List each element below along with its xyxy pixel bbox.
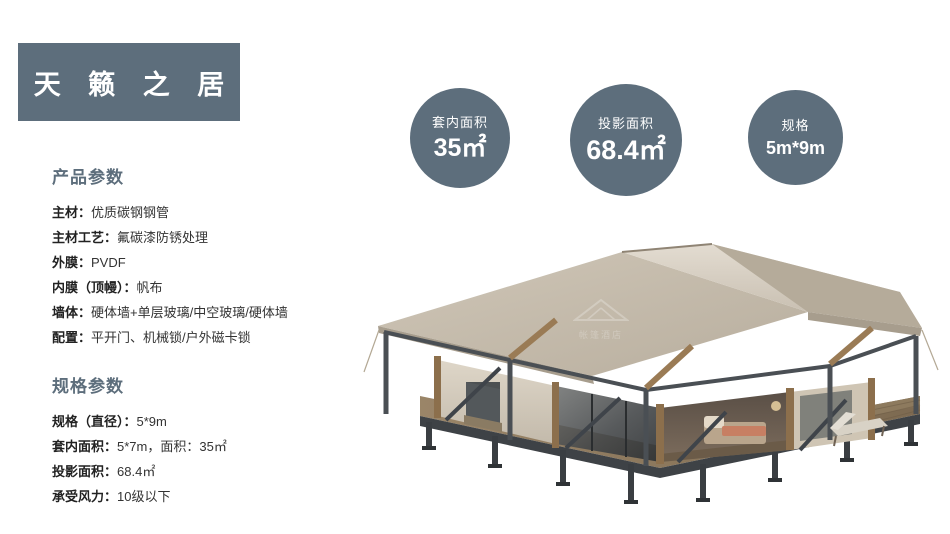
stat-label: 规格 <box>781 119 809 132</box>
section-heading-size: 规格参数 <box>52 372 382 397</box>
stat-value: 35㎡ <box>434 136 487 161</box>
stat-label: 套内面积 <box>432 116 488 129</box>
stat-circle-projected-area: 投影面积 68.4㎡ <box>570 84 682 196</box>
stat-circle-indoor-area: 套内面积 35㎡ <box>410 88 510 188</box>
spec-row: 投影面积：68.4㎡ <box>52 459 382 484</box>
spec-value: 优质碳钢钢管 <box>91 205 169 220</box>
spec-row: 配置：平开门、机械锁/户外磁卡锁 <box>52 325 382 350</box>
spec-value: 氟碳漆防锈处理 <box>117 230 208 245</box>
title-block: 天 籁 之 居 <box>18 43 240 121</box>
spec-label: 主材： <box>52 205 91 220</box>
spec-label: 承受风力： <box>52 489 117 504</box>
spec-value: 平开门、机械锁/户外磁卡锁 <box>91 330 251 345</box>
stat-circle-dimensions: 规格 5m*9m <box>748 90 843 185</box>
product-params-section: 产品参数 主材：优质碳钢钢管 主材工艺：氟碳漆防锈处理 外膜：PVDF 内膜（顶… <box>52 163 382 350</box>
spec-label: 外膜： <box>52 255 91 270</box>
spec-label: 规格（直径）： <box>52 414 137 429</box>
section-heading-product: 产品参数 <box>52 163 382 188</box>
tent-render-illustration <box>360 200 950 534</box>
spec-row: 规格（直径）：5*9m <box>52 409 382 434</box>
spec-label: 内膜（顶幔）： <box>52 280 137 295</box>
spec-label: 墙体： <box>52 305 91 320</box>
spec-row: 墙体：硬体墙+单层玻璃/中空玻璃/硬体墙 <box>52 300 382 325</box>
spec-label: 主材工艺： <box>52 230 117 245</box>
size-params-list: 规格（直径）：5*9m 套内面积：5*7m，面积：35㎡ 投影面积：68.4㎡ … <box>52 409 382 509</box>
product-params-list: 主材：优质碳钢钢管 主材工艺：氟碳漆防锈处理 外膜：PVDF 内膜（顶幔）：帆布… <box>52 200 382 350</box>
stat-value: 5m*9m <box>766 139 825 157</box>
spec-value: PVDF <box>91 255 126 270</box>
spec-row: 主材：优质碳钢钢管 <box>52 200 382 225</box>
tent-svg <box>360 200 950 534</box>
page-title: 天 籁 之 居 <box>24 63 235 102</box>
spec-value: 5*9m <box>137 414 167 429</box>
spec-row: 内膜（顶幔）：帆布 <box>52 275 382 300</box>
size-params-section: 规格参数 规格（直径）：5*9m 套内面积：5*7m，面积：35㎡ 投影面积：6… <box>52 372 382 509</box>
spec-label: 套内面积： <box>52 439 117 454</box>
spec-value: 10级以下 <box>117 489 170 504</box>
spec-label: 投影面积： <box>52 464 117 479</box>
interior-lamp <box>771 401 781 411</box>
spec-value: 68.4㎡ <box>117 464 155 479</box>
spec-value: 5*7m，面积：35㎡ <box>117 439 227 454</box>
spec-panel: 产品参数 主材：优质碳钢钢管 主材工艺：氟碳漆防锈处理 外膜：PVDF 内膜（顶… <box>52 163 382 531</box>
spec-row: 套内面积：5*7m，面积：35㎡ <box>52 434 382 459</box>
spec-value: 帆布 <box>137 280 163 295</box>
stat-value: 68.4㎡ <box>586 137 666 164</box>
spec-row: 承受风力：10级以下 <box>52 484 382 509</box>
stat-label: 投影面积 <box>598 117 654 130</box>
spec-value: 硬体墙+单层玻璃/中空玻璃/硬体墙 <box>91 305 288 320</box>
spec-label: 配置： <box>52 330 91 345</box>
spec-row: 外膜：PVDF <box>52 250 382 275</box>
spec-row: 主材工艺：氟碳漆防锈处理 <box>52 225 382 250</box>
